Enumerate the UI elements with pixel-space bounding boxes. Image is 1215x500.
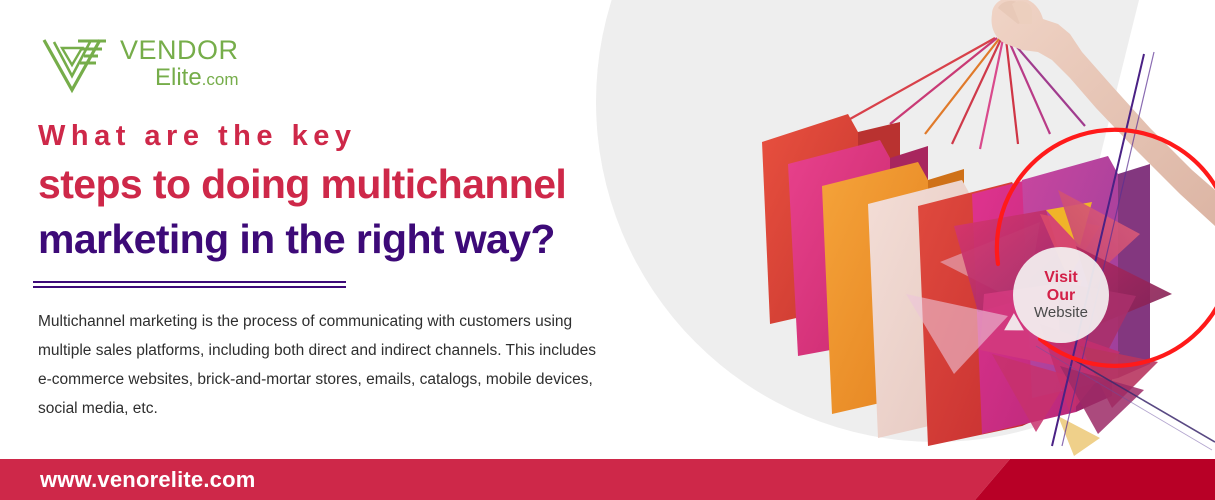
footer-website-url[interactable]: www.venorelite.com: [40, 459, 256, 500]
headline-line-1: What are the key: [38, 118, 566, 154]
vendor-elite-v-mark-icon: [38, 32, 110, 94]
brand-name-elite: Elite: [155, 64, 202, 91]
badge-line-2: Our: [1047, 287, 1075, 305]
brand-name-line2: Elite.com: [120, 66, 239, 90]
body-paragraph: Multichannel marketing is the process of…: [38, 307, 598, 423]
headline-line-3: marketing in the right way?: [38, 213, 566, 265]
badge-line-3: Website: [1034, 305, 1088, 322]
marketing-banner: Visit Our Website: [0, 0, 1215, 500]
brand-name-line1: VENDOR: [120, 37, 239, 64]
visit-website-badge[interactable]: Visit Our Website: [1013, 247, 1109, 343]
hand-holding-shopping-bags-artwork: [740, 0, 1215, 464]
headline-line-2: steps to doing multichannel: [38, 158, 566, 210]
brand-logo[interactable]: VENDOR Elite.com: [38, 32, 239, 94]
divider-rule-bottom: [33, 286, 346, 288]
footer-bar: www.venorelite.com: [0, 459, 1215, 500]
divider-rule-top: [33, 281, 346, 283]
brand-name-dotcom: .com: [202, 70, 239, 89]
badge-line-1: Visit: [1044, 269, 1078, 287]
headline-block: What are the key steps to doing multicha…: [38, 118, 566, 265]
headline-divider: [33, 281, 346, 288]
brand-logo-text: VENDOR Elite.com: [120, 37, 239, 90]
body-copy: Multichannel marketing is the process of…: [38, 307, 598, 423]
